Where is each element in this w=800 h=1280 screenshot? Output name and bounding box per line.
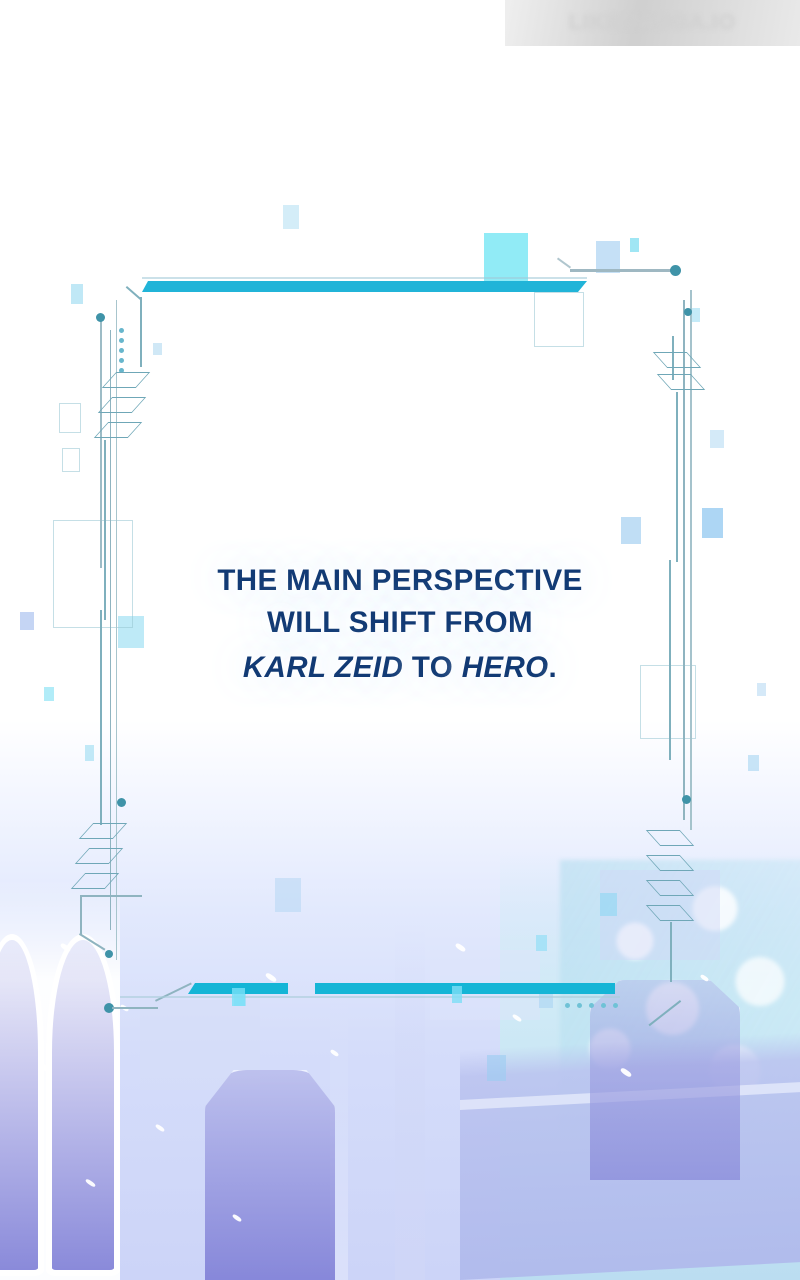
top-right-node-dot xyxy=(670,265,681,276)
right-frame-tail-line xyxy=(670,922,672,982)
dot-2 xyxy=(119,338,124,343)
left-tick-diagonal xyxy=(79,933,105,950)
chevron-right-2 xyxy=(657,374,705,390)
caption-block: THE MAIN PERSPECTIVE WILL SHIFT FROM KAR… xyxy=(0,560,800,689)
left-dot-indicators xyxy=(119,328,124,373)
right-frame-mid-line xyxy=(676,392,678,562)
top-accent-bar xyxy=(142,281,554,292)
dot-4 xyxy=(601,1003,606,1008)
deco-square xyxy=(85,745,94,761)
deco-square xyxy=(710,430,724,448)
bar-marker-2 xyxy=(452,986,462,1003)
character-name-hero: HERO xyxy=(462,651,549,684)
caption-line-3: KARL ZEID TO HERO. xyxy=(0,647,800,689)
caption-period: . xyxy=(549,651,558,684)
deco-square xyxy=(702,508,723,538)
bottom-dot-indicators xyxy=(565,1003,618,1008)
dot-3 xyxy=(119,348,124,353)
deco-square-outline xyxy=(59,403,81,433)
left-tick-end-dot xyxy=(105,950,113,958)
bar-marker-1 xyxy=(232,988,245,1006)
chevron-right-6 xyxy=(646,905,694,921)
deco-square xyxy=(621,517,641,544)
deco-square xyxy=(536,935,547,951)
dot-1 xyxy=(119,328,124,333)
dot-3 xyxy=(589,1003,594,1008)
deco-square xyxy=(630,238,639,252)
top-accent-bar-segment xyxy=(545,281,587,292)
right-lower-node-dot xyxy=(682,795,691,804)
left-tick-line xyxy=(80,895,142,897)
deco-square-outline xyxy=(62,448,80,472)
caption-connector: TO xyxy=(403,651,461,684)
bottom-left-connector xyxy=(112,1007,158,1009)
top-right-connector-diagonal xyxy=(557,257,571,268)
left-rail-top-dot xyxy=(96,313,105,322)
deco-square xyxy=(600,893,617,916)
caption-line-1: THE MAIN PERSPECTIVE xyxy=(0,560,800,602)
dot-2 xyxy=(577,1003,582,1008)
deco-square xyxy=(748,755,759,771)
character-name-karl-zeid: KARL ZEID xyxy=(243,651,403,684)
chevron-right-1 xyxy=(653,352,701,368)
left-corner-vertical xyxy=(140,297,142,367)
dot-1 xyxy=(565,1003,570,1008)
deco-square xyxy=(153,343,162,355)
bottom-bar-hairline xyxy=(120,996,620,998)
right-rail-top-dot xyxy=(684,308,692,316)
chevron-right-3 xyxy=(646,830,694,846)
chevron-left-6 xyxy=(71,873,119,889)
top-right-connector-line xyxy=(570,269,675,272)
top-bar-hairline xyxy=(142,277,587,279)
left-tick-drop xyxy=(80,895,82,935)
watermark-text: LIKEMANGA.IO xyxy=(569,11,736,35)
deco-square xyxy=(44,687,54,701)
caption-line-2: WILL SHIFT FROM xyxy=(0,602,800,644)
deco-square xyxy=(283,205,299,229)
site-watermark: LIKEMANGA.IO xyxy=(505,0,800,46)
right-corner-diagonal xyxy=(648,1000,681,1026)
left-rail-line xyxy=(100,318,102,568)
chevron-right-4 xyxy=(646,855,694,871)
left-lower-node-dot xyxy=(117,798,126,807)
chevron-left-4 xyxy=(79,823,127,839)
dot-4 xyxy=(119,358,124,363)
dot-5 xyxy=(613,1003,618,1008)
chevron-left-2 xyxy=(98,397,146,413)
deco-square xyxy=(275,878,301,912)
deco-rect-outline-top xyxy=(534,292,584,347)
chevron-right-5 xyxy=(646,880,694,896)
deco-square xyxy=(71,284,83,304)
bottom-accent-bar-right xyxy=(315,983,615,994)
bottom-left-connector-diagonal xyxy=(155,982,192,1001)
deco-square xyxy=(487,1055,506,1081)
